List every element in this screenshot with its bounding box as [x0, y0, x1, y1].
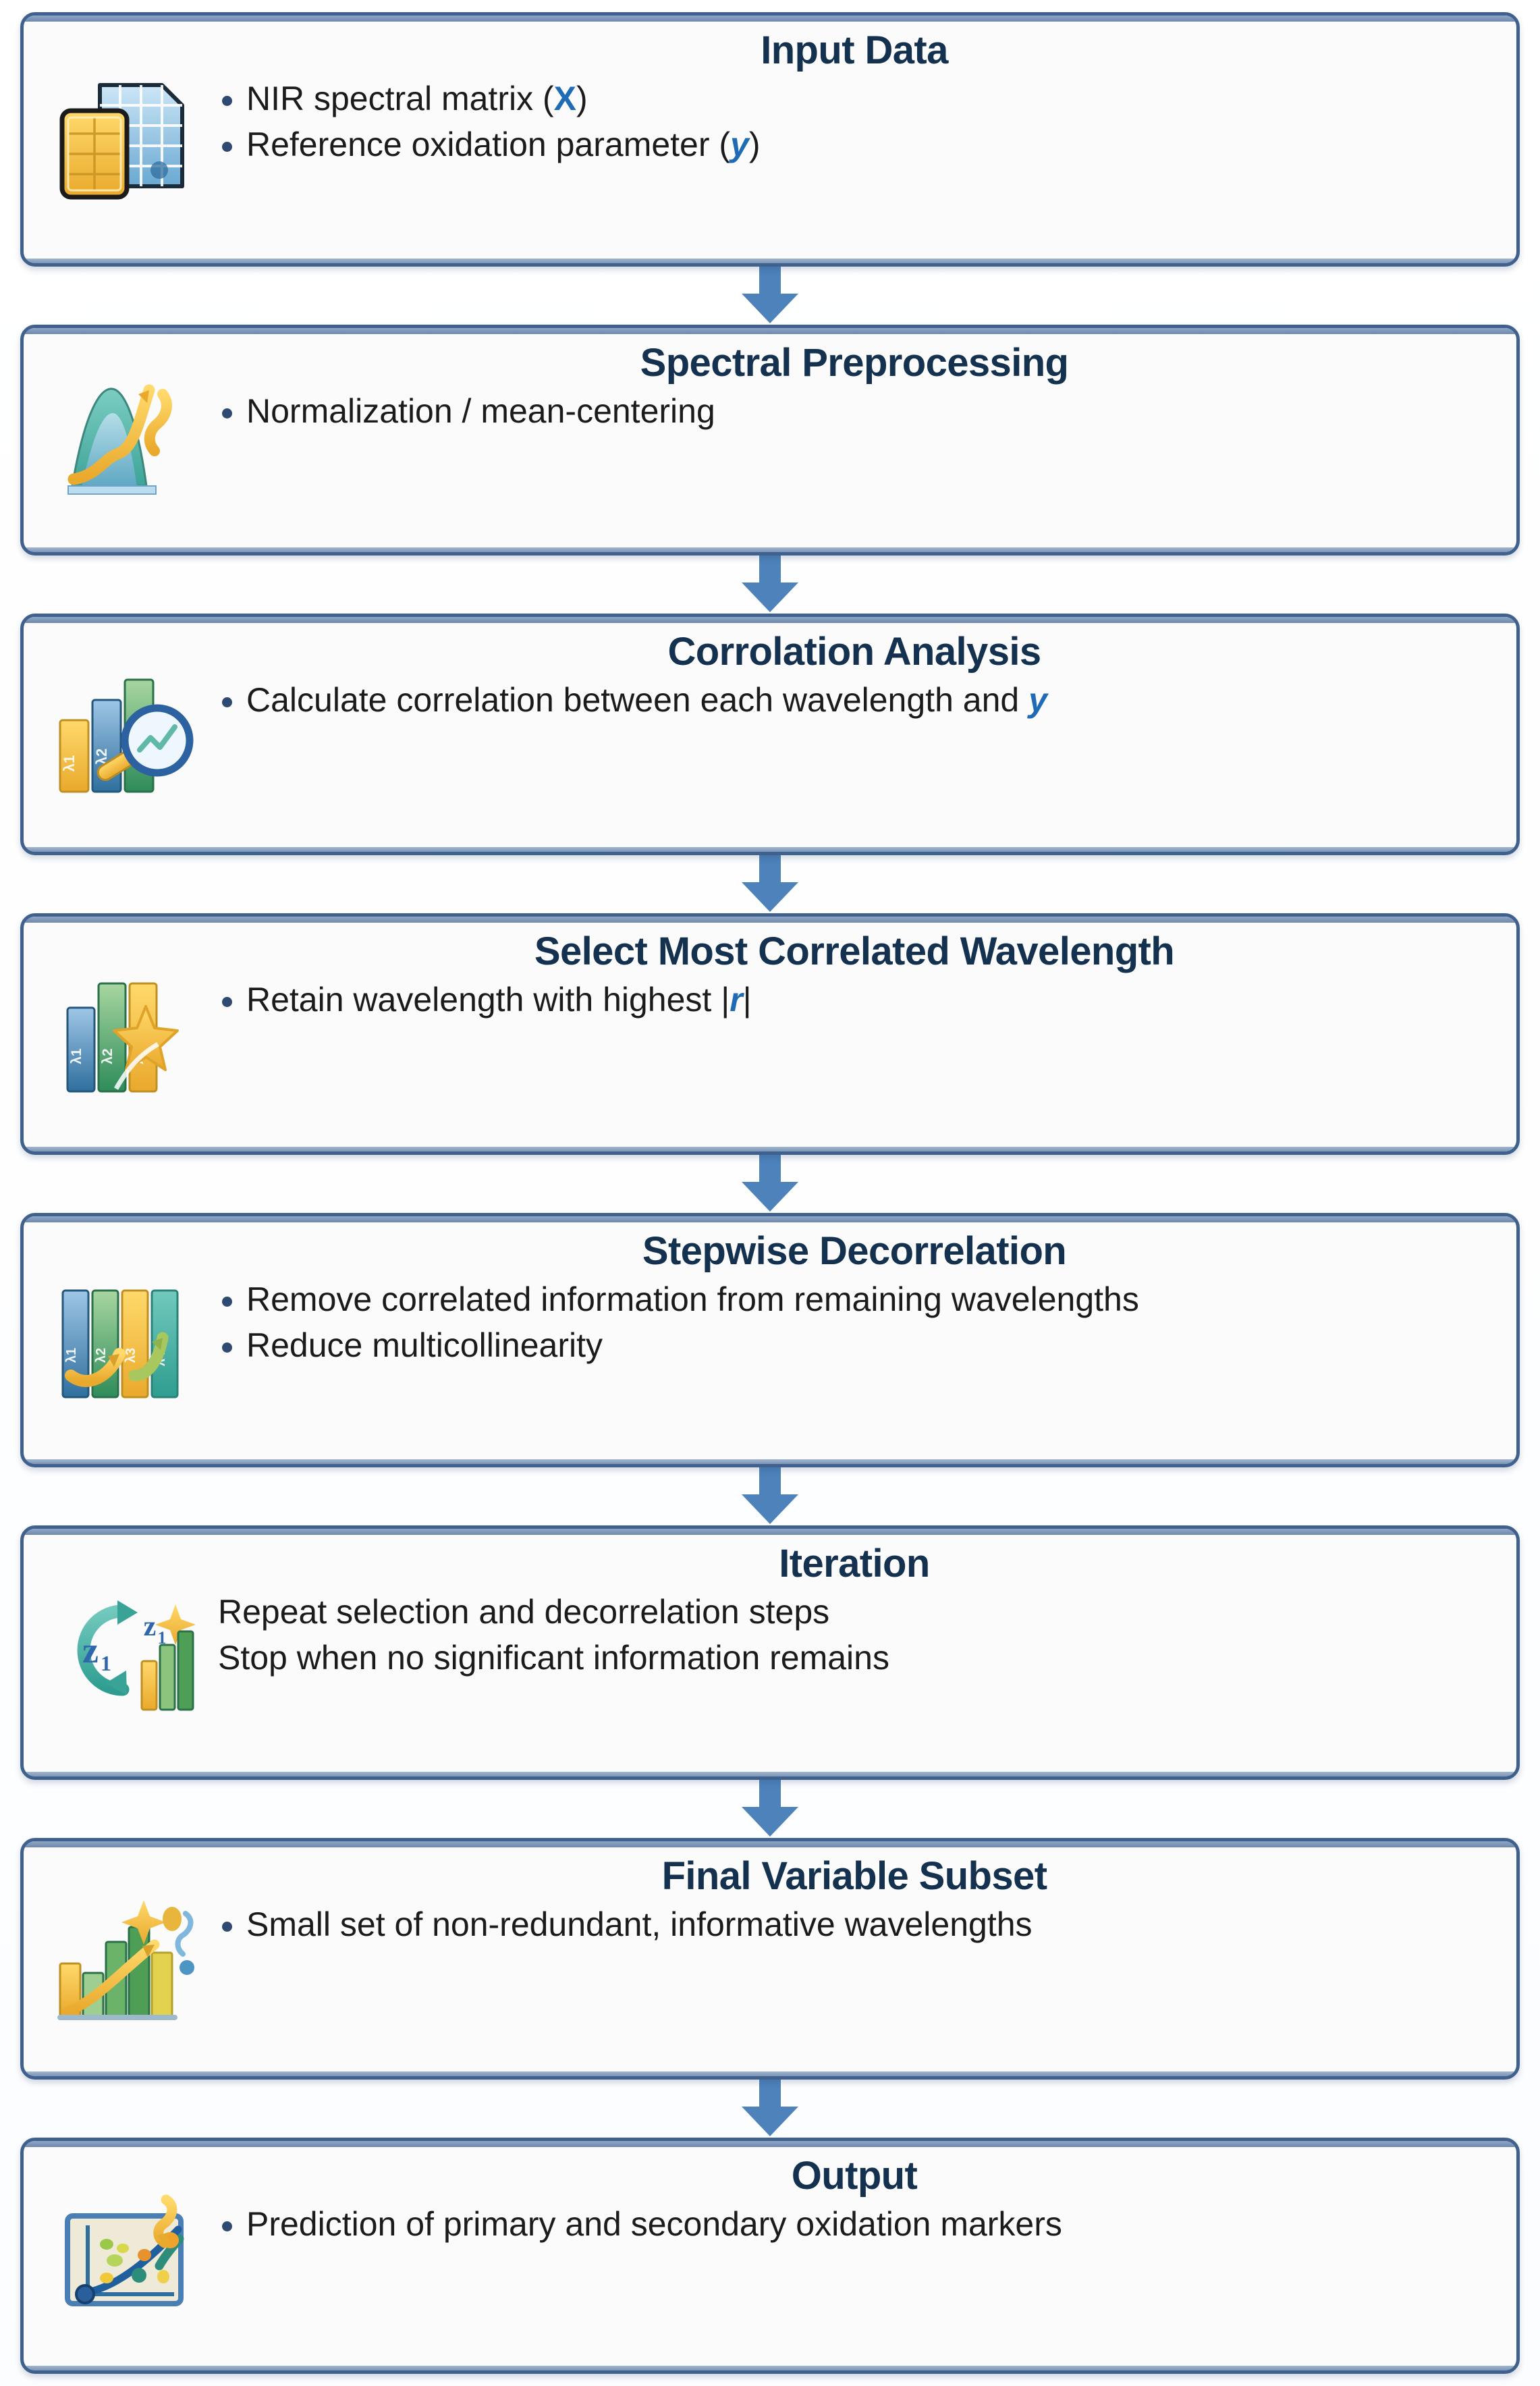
bullet-text: Retain wavelength with highest | — [246, 981, 730, 1019]
bullet-text-suffix: ) — [749, 126, 761, 163]
bullet-text-suffix: ) — [576, 80, 588, 117]
bullet-item: Reduce multicollinearity — [215, 1324, 1493, 1367]
svg-text:λ1: λ1 — [64, 1348, 79, 1363]
step-bullet-list: Small set of non-redundant, informative … — [215, 1903, 1493, 1946]
step-body: Input DataNIR spectral matrix (X)Referen… — [215, 26, 1493, 166]
step-spectral-preprocessing: Spectral PreprocessingNormalization / me… — [20, 325, 1520, 555]
bullet-symbol: y — [730, 126, 749, 163]
down-arrow-icon — [20, 267, 1520, 325]
step-bullet-list: Prediction of primary and secondary oxid… — [215, 2202, 1493, 2246]
step-body: Spectral PreprocessingNormalization / me… — [215, 339, 1493, 433]
bullet-text: Reference oxidation parameter ( — [246, 126, 730, 163]
svg-text:λ2: λ2 — [100, 1048, 115, 1064]
step-body: Corrolation AnalysisCalculate correlatio… — [215, 628, 1493, 722]
step-bullet-list: Normalization / mean-centering — [215, 389, 1493, 433]
svg-text:z: z — [143, 1611, 156, 1642]
step-title: Output — [215, 2154, 1493, 2198]
bullet-item: Normalization / mean-centering — [215, 389, 1493, 433]
step-title: Iteration — [215, 1542, 1493, 1586]
bullet-text: Normalization / mean-centering — [246, 392, 715, 430]
step-bullet-list: Retain wavelength with highest |r| — [215, 978, 1493, 1021]
step-bullet-list: Repeat selection and decorrelation steps… — [215, 1590, 1493, 1679]
bullet-symbol: X — [554, 80, 576, 117]
down-arrow-icon — [20, 555, 1520, 614]
down-arrow-icon — [20, 1780, 1520, 1838]
bars-magnifier-icon: λ1 λ2 λ3 — [40, 628, 215, 841]
bullet-item: Repeat selection and decorrelation steps — [215, 1590, 1493, 1633]
bullet-item: Retain wavelength with highest |r| — [215, 978, 1493, 1021]
step-select-most-correlated-wavelength: λ1 λ2 λ3 Select Most Correlated Waveleng… — [20, 913, 1520, 1155]
bullet-symbol: r — [730, 981, 742, 1019]
down-arrow-icon — [20, 1155, 1520, 1213]
svg-text:z: z — [82, 1630, 99, 1671]
scatter-trendline-icon — [40, 2152, 215, 2360]
bullet-item: Prediction of primary and secondary oxid… — [215, 2202, 1493, 2246]
step-title: Input Data — [215, 29, 1493, 73]
step-bullet-list: Remove correlated information from remai… — [215, 1278, 1493, 1367]
down-arrow-icon — [20, 855, 1520, 913]
bullet-item: Remove correlated information from remai… — [215, 1278, 1493, 1321]
bullet-item: Stop when no significant information rem… — [215, 1636, 1493, 1679]
step-body: OutputPrediction of primary and secondar… — [215, 2152, 1493, 2246]
step-title: Select Most Correlated Wavelength — [215, 930, 1493, 974]
svg-text:λ1: λ1 — [61, 755, 78, 771]
step-body: Final Variable SubsetSmall set of non-re… — [215, 1852, 1493, 1946]
step-body: IterationRepeat selection and decorrelat… — [215, 1540, 1493, 1679]
bars-arrows-icon: λ1 λ2 λ3 λ4 — [40, 1227, 215, 1453]
step-body: Select Most Correlated WavelengthRetain … — [215, 927, 1493, 1021]
step-iteration: z 1 z 1 IterationRepeat selection and de… — [20, 1525, 1520, 1780]
step-input-data: Input DataNIR spectral matrix (X)Referen… — [20, 12, 1520, 267]
step-stepwise-decorrelation: λ1 λ2 λ3 λ4 Stepwise DecorrelationRemove… — [20, 1213, 1520, 1467]
bullet-text: Prediction of primary and secondary oxid… — [246, 2205, 1062, 2243]
svg-text:λ1: λ1 — [69, 1048, 84, 1064]
bullet-item: NIR spectral matrix (X) — [215, 77, 1493, 120]
workflow-flowchart: Input DataNIR spectral matrix (X)Referen… — [0, 0, 1540, 2386]
svg-text:λ3: λ3 — [123, 1348, 138, 1363]
spreadsheet-table-icon — [40, 26, 215, 252]
bullet-text: Stop when no significant information rem… — [218, 1639, 889, 1677]
bars-star-icon: λ1 λ2 λ3 — [40, 927, 215, 1141]
bullet-text: Calculate correlation between each wavel… — [246, 681, 1028, 719]
down-arrow-icon — [20, 2080, 1520, 2138]
bullet-text: Reduce multicollinearity — [246, 1326, 603, 1364]
spectrum-curve-icon — [40, 339, 215, 541]
bullet-text: Small set of non-redundant, informative … — [246, 1905, 1033, 1943]
bullet-item: Small set of non-redundant, informative … — [215, 1903, 1493, 1946]
cycle-z1-bars-icon: z 1 z 1 — [40, 1540, 215, 1766]
step-title: Corrolation Analysis — [215, 630, 1493, 674]
step-final-variable-subset: Final Variable SubsetSmall set of non-re… — [20, 1838, 1520, 2080]
svg-text:1: 1 — [101, 1651, 111, 1675]
step-title: Stepwise Decorrelation — [215, 1230, 1493, 1274]
down-arrow-icon — [20, 1467, 1520, 1525]
step-output: OutputPrediction of primary and secondar… — [20, 2138, 1520, 2374]
step-title: Spectral Preprocessing — [215, 342, 1493, 385]
step-title: Final Variable Subset — [215, 1855, 1493, 1899]
step-bullet-list: Calculate correlation between each wavel… — [215, 678, 1493, 722]
step-bullet-list: NIR spectral matrix (X)Reference oxidati… — [215, 77, 1493, 166]
step-body: Stepwise DecorrelationRemove correlated … — [215, 1227, 1493, 1367]
bullet-item: Reference oxidation parameter (y) — [215, 123, 1493, 166]
bullet-symbol: y — [1028, 681, 1047, 719]
bullet-item: Calculate correlation between each wavel… — [215, 678, 1493, 722]
bullet-text: Remove correlated information from remai… — [246, 1280, 1139, 1318]
svg-text:λ2: λ2 — [94, 1348, 109, 1363]
bullet-text: Repeat selection and decorrelation steps — [218, 1593, 829, 1631]
bullet-text: NIR spectral matrix ( — [246, 80, 554, 117]
bullet-text-suffix: | — [743, 981, 752, 1019]
step-corrolation-analysis: λ1 λ2 λ3 Corrolation AnalysisCalculate c… — [20, 614, 1520, 855]
bars-sparkle-growth-icon — [40, 1852, 215, 2065]
